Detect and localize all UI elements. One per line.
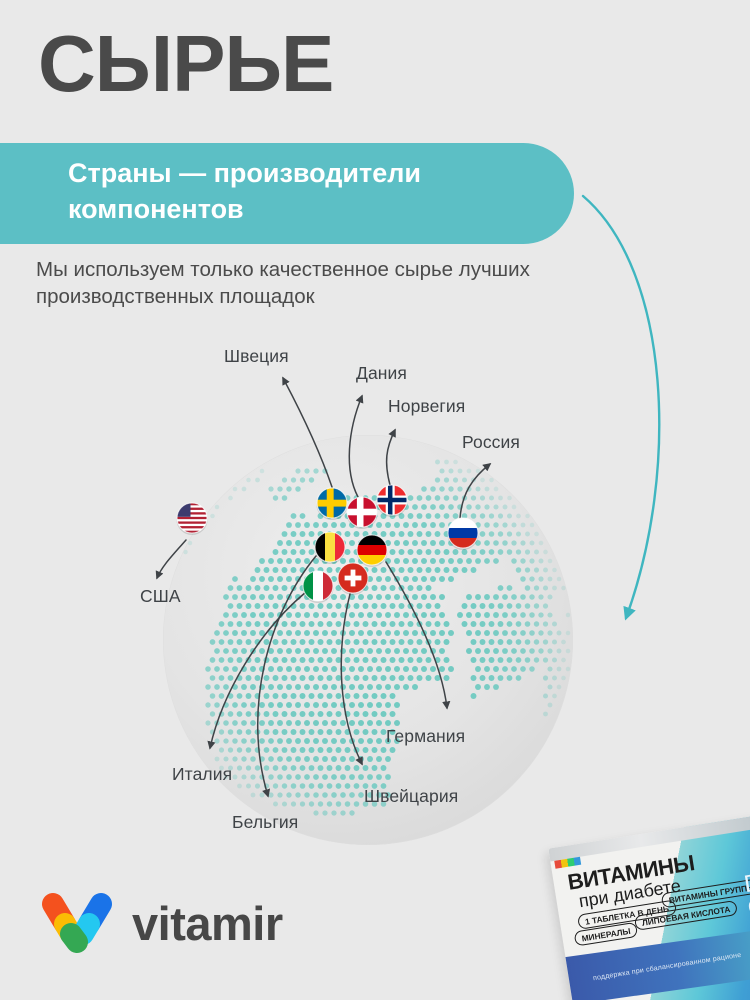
- logo-wordmark: vitamir: [132, 900, 283, 947]
- country-label-switzerland: Швейцария: [364, 786, 458, 807]
- flag-usa-pin[interactable]: [176, 503, 207, 535]
- banner-title: Страны — производители компонентов: [68, 155, 588, 227]
- country-label-norway: Норвегия: [388, 396, 465, 417]
- country-label-italy: Италия: [172, 764, 232, 785]
- country-label-russia: Россия: [462, 432, 520, 453]
- flag-switzerland-pin[interactable]: [337, 563, 368, 595]
- subtitle-text: Мы используем только качественное сырье …: [36, 256, 576, 310]
- accent-arrow: [583, 196, 659, 618]
- country-label-sweden: Швеция: [224, 346, 289, 367]
- page-title: СЫРЬЕ: [38, 20, 333, 108]
- country-label-denmark: Дания: [356, 363, 407, 384]
- vitamir-v-mark-icon: [40, 890, 114, 956]
- flag-russia-pin[interactable]: [447, 518, 478, 550]
- country-label-belgium: Бельгия: [232, 812, 298, 833]
- flag-italy-pin[interactable]: [302, 571, 333, 603]
- product-package[interactable]: ВИТАМИНЫ при диабете 1 ТАБЛЕТКА В ДЕНЬ В…: [548, 812, 750, 1000]
- infographic-root: СЫРЬЕ Страны — производители компонентов…: [0, 0, 750, 1000]
- flag-sweden-pin[interactable]: [316, 488, 347, 520]
- country-label-germany: Германия: [386, 726, 465, 747]
- country-label-usa: США: [140, 586, 181, 607]
- flag-belgium-pin[interactable]: [314, 532, 345, 564]
- flag-norway-pin[interactable]: [376, 485, 407, 517]
- brand-logo[interactable]: vitamir: [40, 890, 283, 956]
- flag-germany-pin[interactable]: [356, 535, 387, 567]
- flag-denmark-pin[interactable]: [346, 497, 377, 529]
